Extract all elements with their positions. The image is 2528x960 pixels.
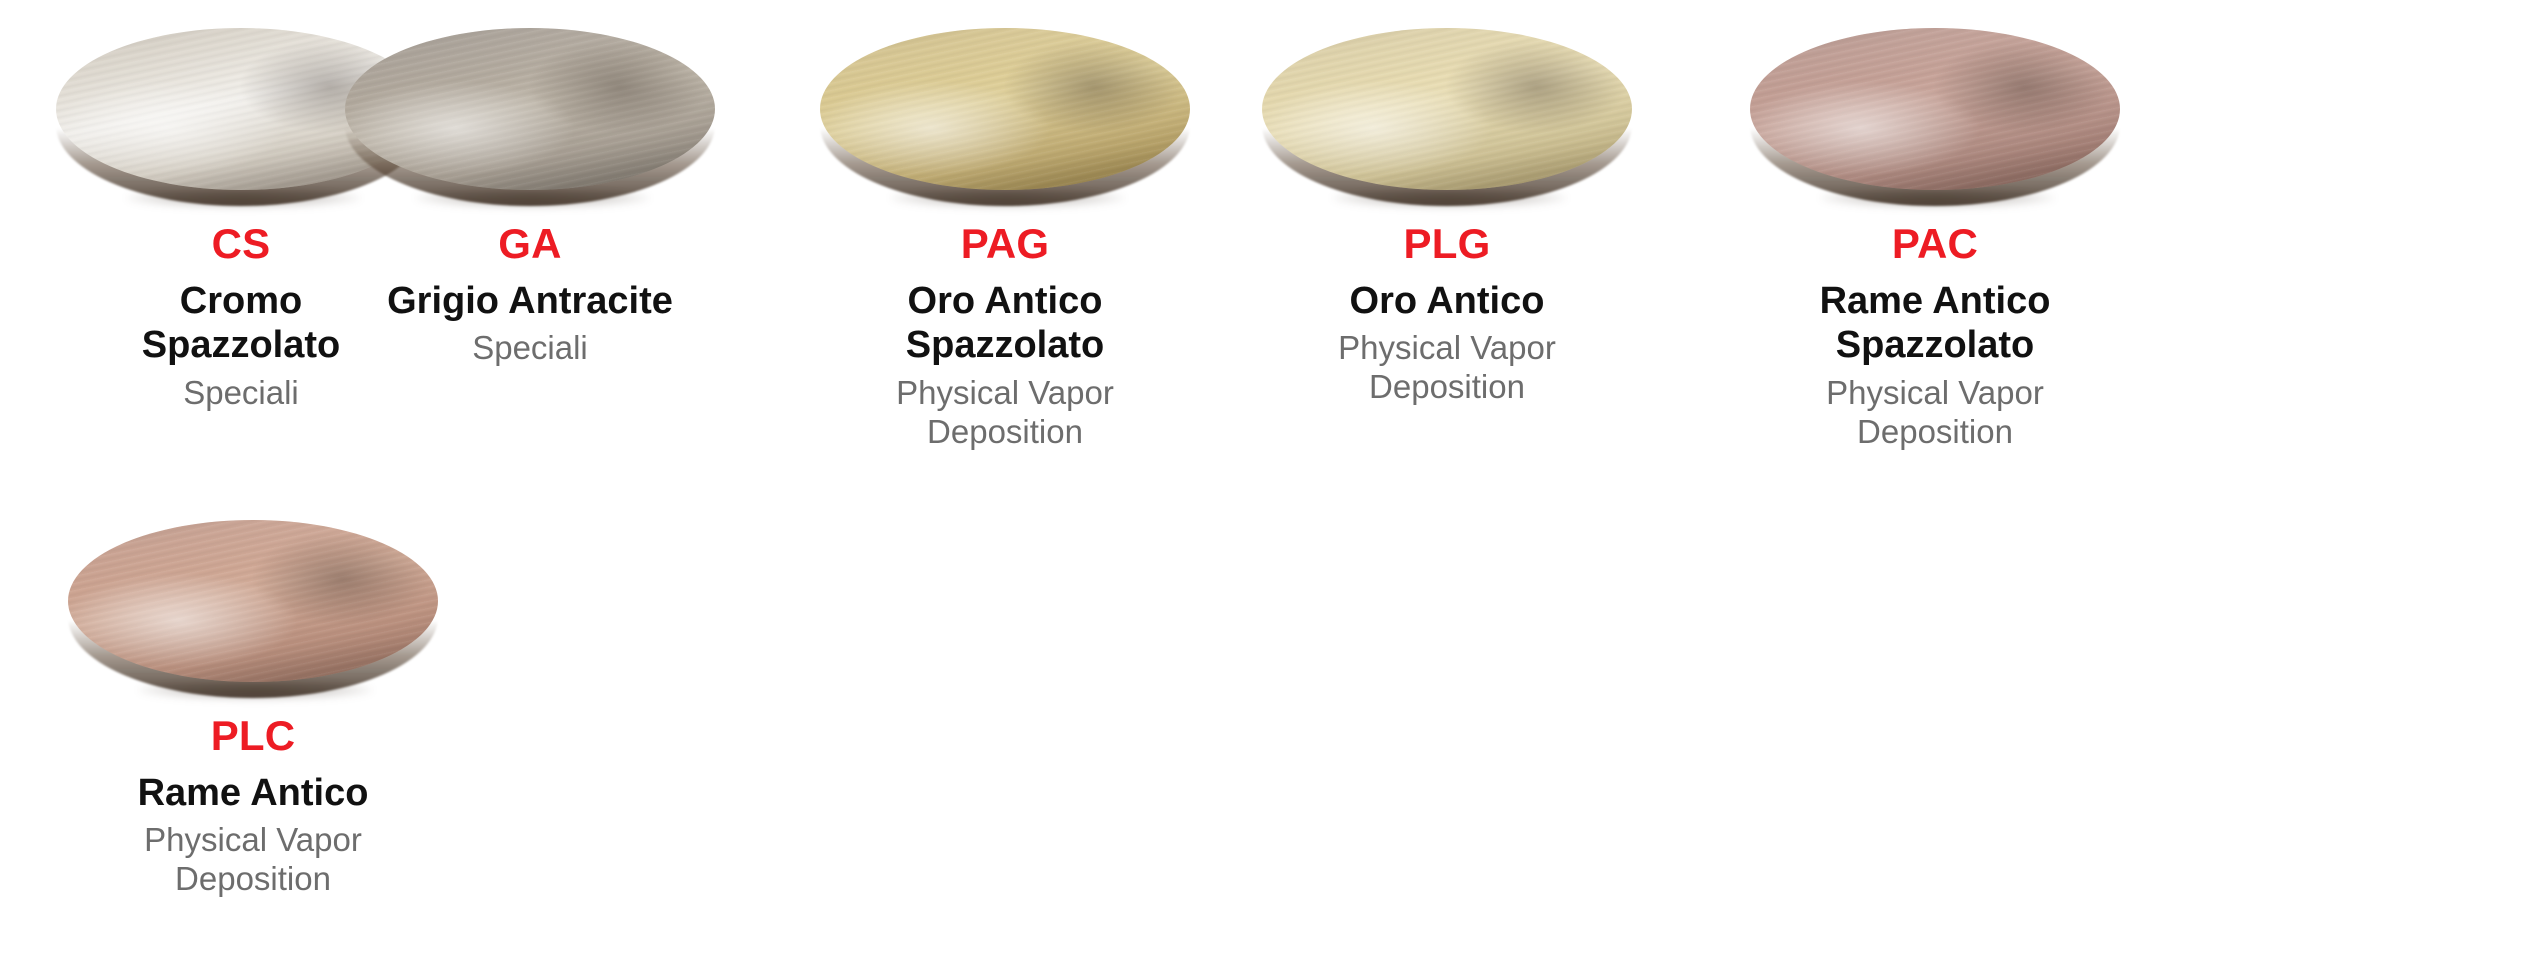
disc-face-icon (345, 28, 715, 190)
finish-code: PAG (961, 222, 1050, 267)
disc-face-icon (820, 28, 1190, 190)
finish-code: CS (212, 222, 271, 267)
finish-swatch-grid: CS Cromo Spazzolato Speciali GA Grigio A… (0, 0, 2528, 960)
finish-technology: Physical Vapor Deposition (103, 821, 403, 899)
disc-face-icon (1262, 28, 1632, 190)
finish-code: PLG (1404, 222, 1491, 267)
finish-code: PAC (1892, 222, 1978, 267)
finish-card-pac[interactable]: PAC Rame Antico Spazzolato Physical Vapo… (1710, 28, 2160, 452)
disc-face-icon (68, 520, 438, 682)
finish-name: Rame Antico (138, 771, 369, 816)
finish-technology: Speciali (472, 329, 588, 368)
finish-card-ga[interactable]: GA Grigio Antracite Speciali (305, 28, 755, 368)
finish-code: PLC (211, 714, 296, 759)
swatch-antique-gold-polished-disc[interactable] (1262, 28, 1632, 206)
finish-technology: Speciali (183, 374, 299, 413)
finish-card-pag[interactable]: PAG Oro Antico Spazzolato Physical Vapor… (780, 28, 1230, 452)
finish-name: Grigio Antracite (387, 279, 673, 324)
finish-technology: Physical Vapor Deposition (1297, 329, 1597, 407)
swatch-anthracite-grey-disc[interactable] (345, 28, 715, 206)
finish-name: Oro Antico Spazzolato (840, 279, 1170, 369)
finish-technology: Physical Vapor Deposition (1785, 374, 2085, 452)
finish-card-plc[interactable]: PLC Rame Antico Physical Vapor Depositio… (28, 520, 478, 899)
finish-technology: Physical Vapor Deposition (855, 374, 1155, 452)
finish-name: Oro Antico (1350, 279, 1545, 324)
disc-face-icon (1750, 28, 2120, 190)
finish-name: Rame Antico Spazzolato (1770, 279, 2100, 369)
finish-card-plg[interactable]: PLG Oro Antico Physical Vapor Deposition (1222, 28, 1672, 407)
finish-code: GA (498, 222, 561, 267)
swatch-antique-gold-brushed-disc[interactable] (820, 28, 1190, 206)
swatch-antique-copper-brushed-disc[interactable] (1750, 28, 2120, 206)
swatch-antique-copper-polished-disc[interactable] (68, 520, 438, 698)
